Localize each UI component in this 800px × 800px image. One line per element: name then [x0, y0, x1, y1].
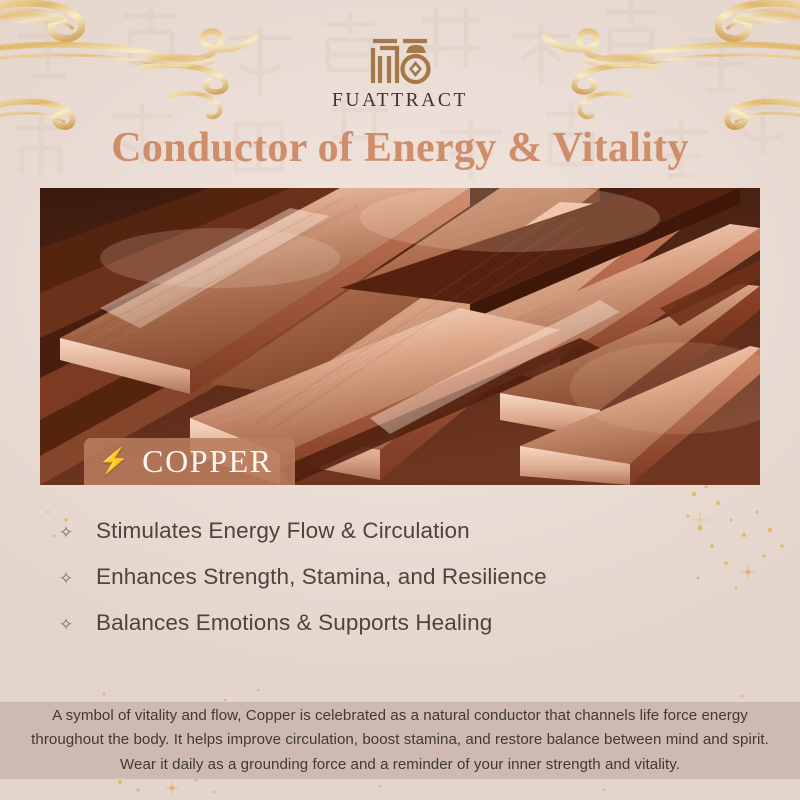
footer-banner: A symbol of vitality and flow, Copper is…	[0, 702, 800, 779]
hero-image: ⚡ COPPER	[40, 188, 760, 485]
diamond-star-bullet-icon: ✧	[58, 570, 74, 587]
brand-name: FUATTRACT	[0, 91, 800, 111]
benefits-list: ✧ Stimulates Energy Flow & Circulation ✧…	[58, 518, 758, 656]
benefit-text: Stimulates Energy Flow & Circulation	[96, 518, 470, 544]
benefit-text: Balances Emotions & Supports Healing	[96, 610, 492, 636]
brand-logo-block: FUATTRACT	[0, 36, 800, 111]
footer-description: A symbol of vitality and flow, Copper is…	[27, 704, 773, 777]
poster-canvas: FUATTRACT Conductor of Energy & Vitality	[0, 0, 800, 800]
fuattract-emblem-icon	[369, 36, 431, 86]
list-item: ✧ Balances Emotions & Supports Healing	[58, 610, 758, 656]
page-title: Conductor of Energy & Vitality	[0, 125, 800, 171]
benefit-text: Enhances Strength, Stamina, and Resilien…	[96, 564, 547, 590]
copper-badge-label: COPPER	[142, 445, 273, 479]
lightning-bolt-icon: ⚡	[98, 449, 129, 474]
copper-badge: ⚡ COPPER	[84, 438, 295, 485]
diamond-star-bullet-icon: ✧	[58, 524, 74, 541]
list-item: ✧ Stimulates Energy Flow & Circulation	[58, 518, 758, 564]
diamond-star-bullet-icon: ✧	[58, 616, 74, 633]
list-item: ✧ Enhances Strength, Stamina, and Resili…	[58, 564, 758, 610]
